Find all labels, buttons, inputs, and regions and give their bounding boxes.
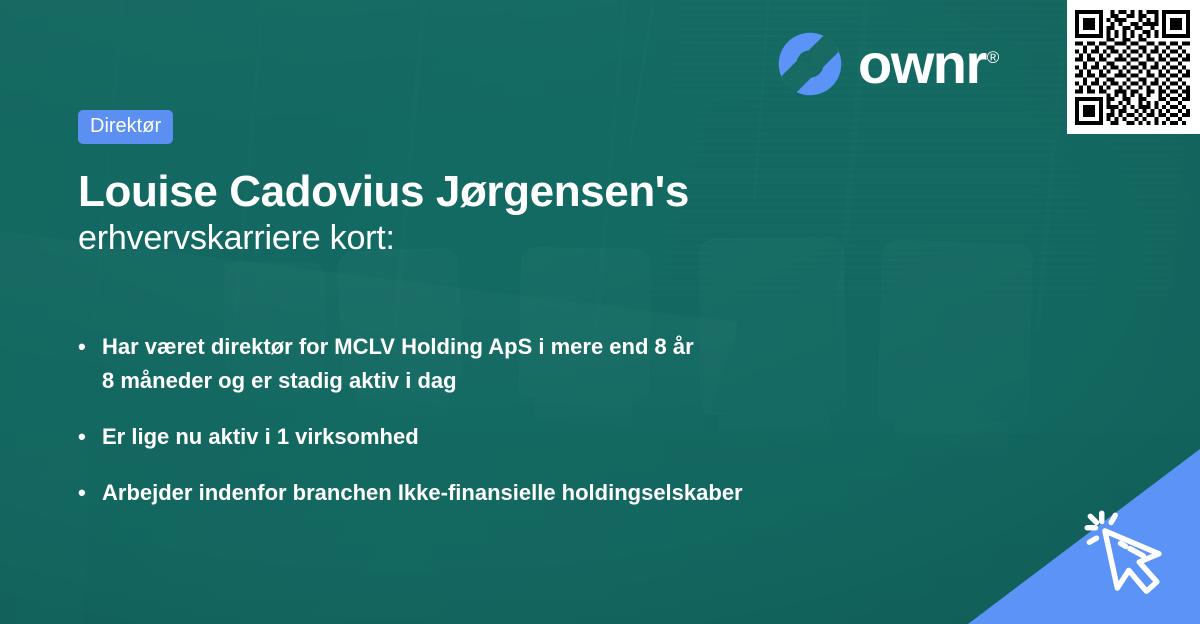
page-subtitle: erhvervskarriere kort: — [78, 216, 1080, 262]
list-item-text: Er lige nu aktiv i 1 virksomhed — [102, 420, 978, 454]
list-item-line: 8 måneder og er stadig aktiv i dag — [102, 368, 457, 393]
card-content: Direktør Louise Cadovius Jørgensen's erh… — [78, 110, 1080, 533]
list-item: • Arbejder indenfor branchen Ikke-finans… — [78, 476, 978, 510]
list-item: • Er lige nu aktiv i 1 virksomhed — [78, 420, 978, 454]
registered-trademark-icon: ® — [987, 48, 1000, 67]
role-badge: Direktør — [78, 110, 173, 144]
ownr-wordmark-text: ownr — [858, 32, 986, 95]
ownr-circle-swirl-icon — [776, 30, 844, 98]
list-item-line: Har været direktør for MCLV Holding ApS … — [102, 334, 694, 359]
ownr-logo[interactable]: ownr® — [776, 30, 999, 98]
person-name: Louise Cadovius Jørgensen's — [78, 167, 1080, 216]
bullet-icon: • — [78, 420, 102, 454]
list-item-text: Arbejder indenfor branchen Ikke-finansie… — [102, 476, 978, 510]
bullet-icon: • — [78, 330, 102, 398]
bullet-icon: • — [78, 476, 102, 510]
click-cursor-icon — [1082, 508, 1186, 612]
career-fact-list: • Har været direktør for MCLV Holding Ap… — [78, 330, 1080, 510]
qr-code-panel[interactable] — [1067, 0, 1200, 134]
qr-code-icon — [1075, 10, 1190, 125]
career-summary-card: ownr® Direktør Louise Cadovius Jørgensen… — [0, 0, 1200, 624]
list-item-text: Har været direktør for MCLV Holding ApS … — [102, 330, 978, 398]
list-item: • Har været direktør for MCLV Holding Ap… — [78, 330, 978, 398]
page-title: Louise Cadovius Jørgensen's erhvervskarr… — [78, 167, 1080, 262]
ownr-wordmark: ownr® — [858, 36, 999, 92]
